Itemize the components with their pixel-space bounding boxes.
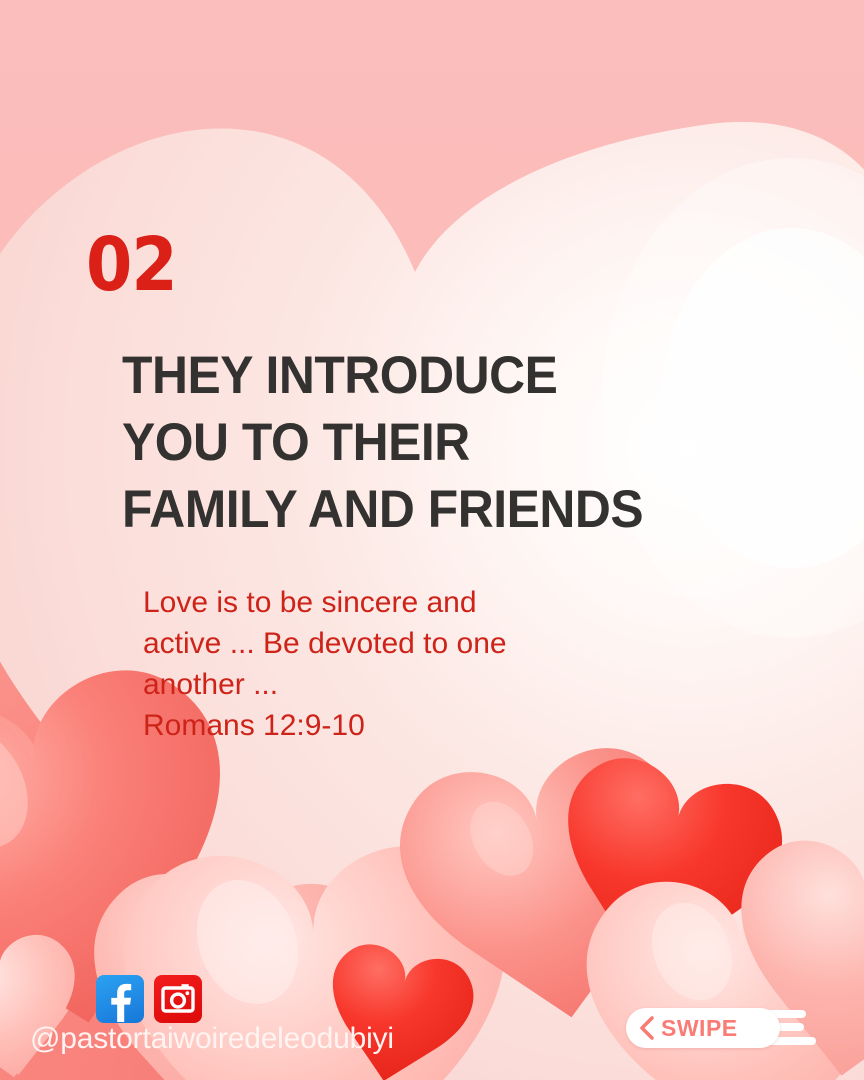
verse-line-3: another ...: [143, 664, 663, 705]
scripture-quote: Love is to be sincere and active ... Be …: [143, 582, 663, 746]
headline-line-3: FAMILY AND FRIENDS: [122, 476, 742, 543]
headline-line-1: THEY INTRODUCE: [122, 342, 742, 409]
verse-line-2: active ... Be devoted to one: [143, 623, 663, 664]
swipe-button[interactable]: SWIPE: [626, 1008, 780, 1048]
page-title: THEY INTRODUCE YOU TO THEIR FAMILY AND F…: [122, 342, 742, 543]
verse-reference: Romans 12:9-10: [143, 705, 663, 746]
social-icons-row: [96, 975, 202, 1023]
facebook-icon[interactable]: [96, 975, 144, 1023]
headline-line-2: YOU TO THEIR: [122, 409, 742, 476]
slide-number: 02: [86, 228, 177, 302]
social-post-canvas: 02 THEY INTRODUCE YOU TO THEIR FAMILY AN…: [0, 0, 864, 1080]
chevron-left-icon: [638, 1016, 655, 1040]
social-handle: @pastortaiwoiredeleodubiyi: [30, 1022, 394, 1056]
instagram-icon[interactable]: [154, 975, 202, 1023]
post-content: 02 THEY INTRODUCE YOU TO THEIR FAMILY AN…: [0, 0, 864, 1080]
swipe-label: SWIPE: [661, 1017, 738, 1040]
verse-line-1: Love is to be sincere and: [143, 582, 663, 623]
